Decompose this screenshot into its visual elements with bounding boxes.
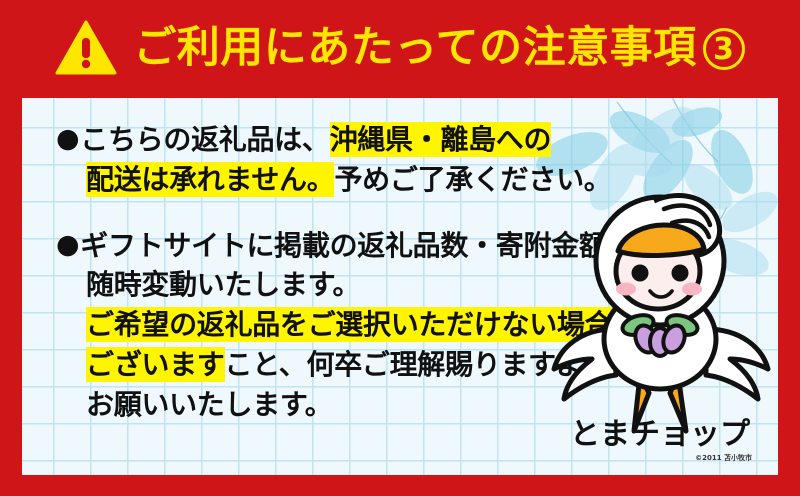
notice-line: ご希望の返礼品をご選択いただけない場合が — [56, 305, 656, 345]
warning-triangle-icon — [55, 20, 117, 76]
notice-text: お願いいたします。 — [86, 388, 333, 421]
notice-line: お願いいたします。 — [56, 385, 656, 425]
notice-line: ございますこと、何卒ご理解賜りますよう — [56, 345, 656, 385]
notice-number-badge: 3 — [703, 28, 745, 70]
notice-text: ギフトサイトに掲載の返礼品数・寄附金額は、 — [80, 229, 662, 262]
notice-text: 随時変動いたします。 — [86, 268, 360, 301]
notice-paragraph-1: ●こちらの返礼品は、沖縄県・離島への 配送は承れません。予めご了承ください。 — [56, 120, 656, 200]
notice-line: 配送は承れません。予めご了承ください。 — [56, 160, 656, 200]
content-panel: ●こちらの返礼品は、沖縄県・離島への 配送は承れません。予めご了承ください。 ●… — [22, 98, 778, 475]
notice-text: こと、何卒ご理解賜りますよう — [225, 348, 612, 381]
header-banner: ご利用にあたっての注意事項3 — [0, 0, 800, 98]
notice-line: ●こちらの返礼品は、沖縄県・離島への — [56, 120, 656, 160]
header-inner: ご利用にあたっての注意事項3 — [55, 20, 744, 76]
notice-text-highlighted: 沖縄県・離島への — [330, 122, 552, 157]
mascot-name-label: とまチョップ — [570, 409, 750, 453]
notice-text-highlighted: ご希望の返礼品をご選択いただけない場合が — [86, 307, 640, 342]
page-title: ご利用にあたっての注意事項3 — [133, 27, 744, 70]
notice-text-highlighted: 配送は承れません。 — [86, 162, 334, 197]
mascot-copyright-label: ©2011 苫小牧市 — [695, 453, 752, 463]
notice-banner-image: ご利用にあたっての注意事項3 — [0, 0, 800, 496]
page-title-text: ご利用にあたっての注意事項 — [133, 23, 696, 73]
bullet-marker: ● — [56, 123, 79, 154]
notice-text: こちらの返礼品は、 — [80, 123, 329, 156]
notice-line: 随時変動いたします。 — [56, 265, 656, 305]
bullet-marker: ● — [56, 229, 79, 260]
notice-text: 予めご了承ください。 — [334, 163, 611, 196]
notice-text-container: ●こちらの返礼品は、沖縄県・離島への 配送は承れません。予めご了承ください。 ●… — [56, 120, 656, 424]
notice-text-highlighted: ございます — [86, 347, 225, 382]
notice-paragraph-2: ●ギフトサイトに掲載の返礼品数・寄附金額は、 随時変動いたします。 ご希望の返礼… — [56, 226, 656, 425]
notice-line: ●ギフトサイトに掲載の返礼品数・寄附金額は、 — [56, 226, 656, 266]
